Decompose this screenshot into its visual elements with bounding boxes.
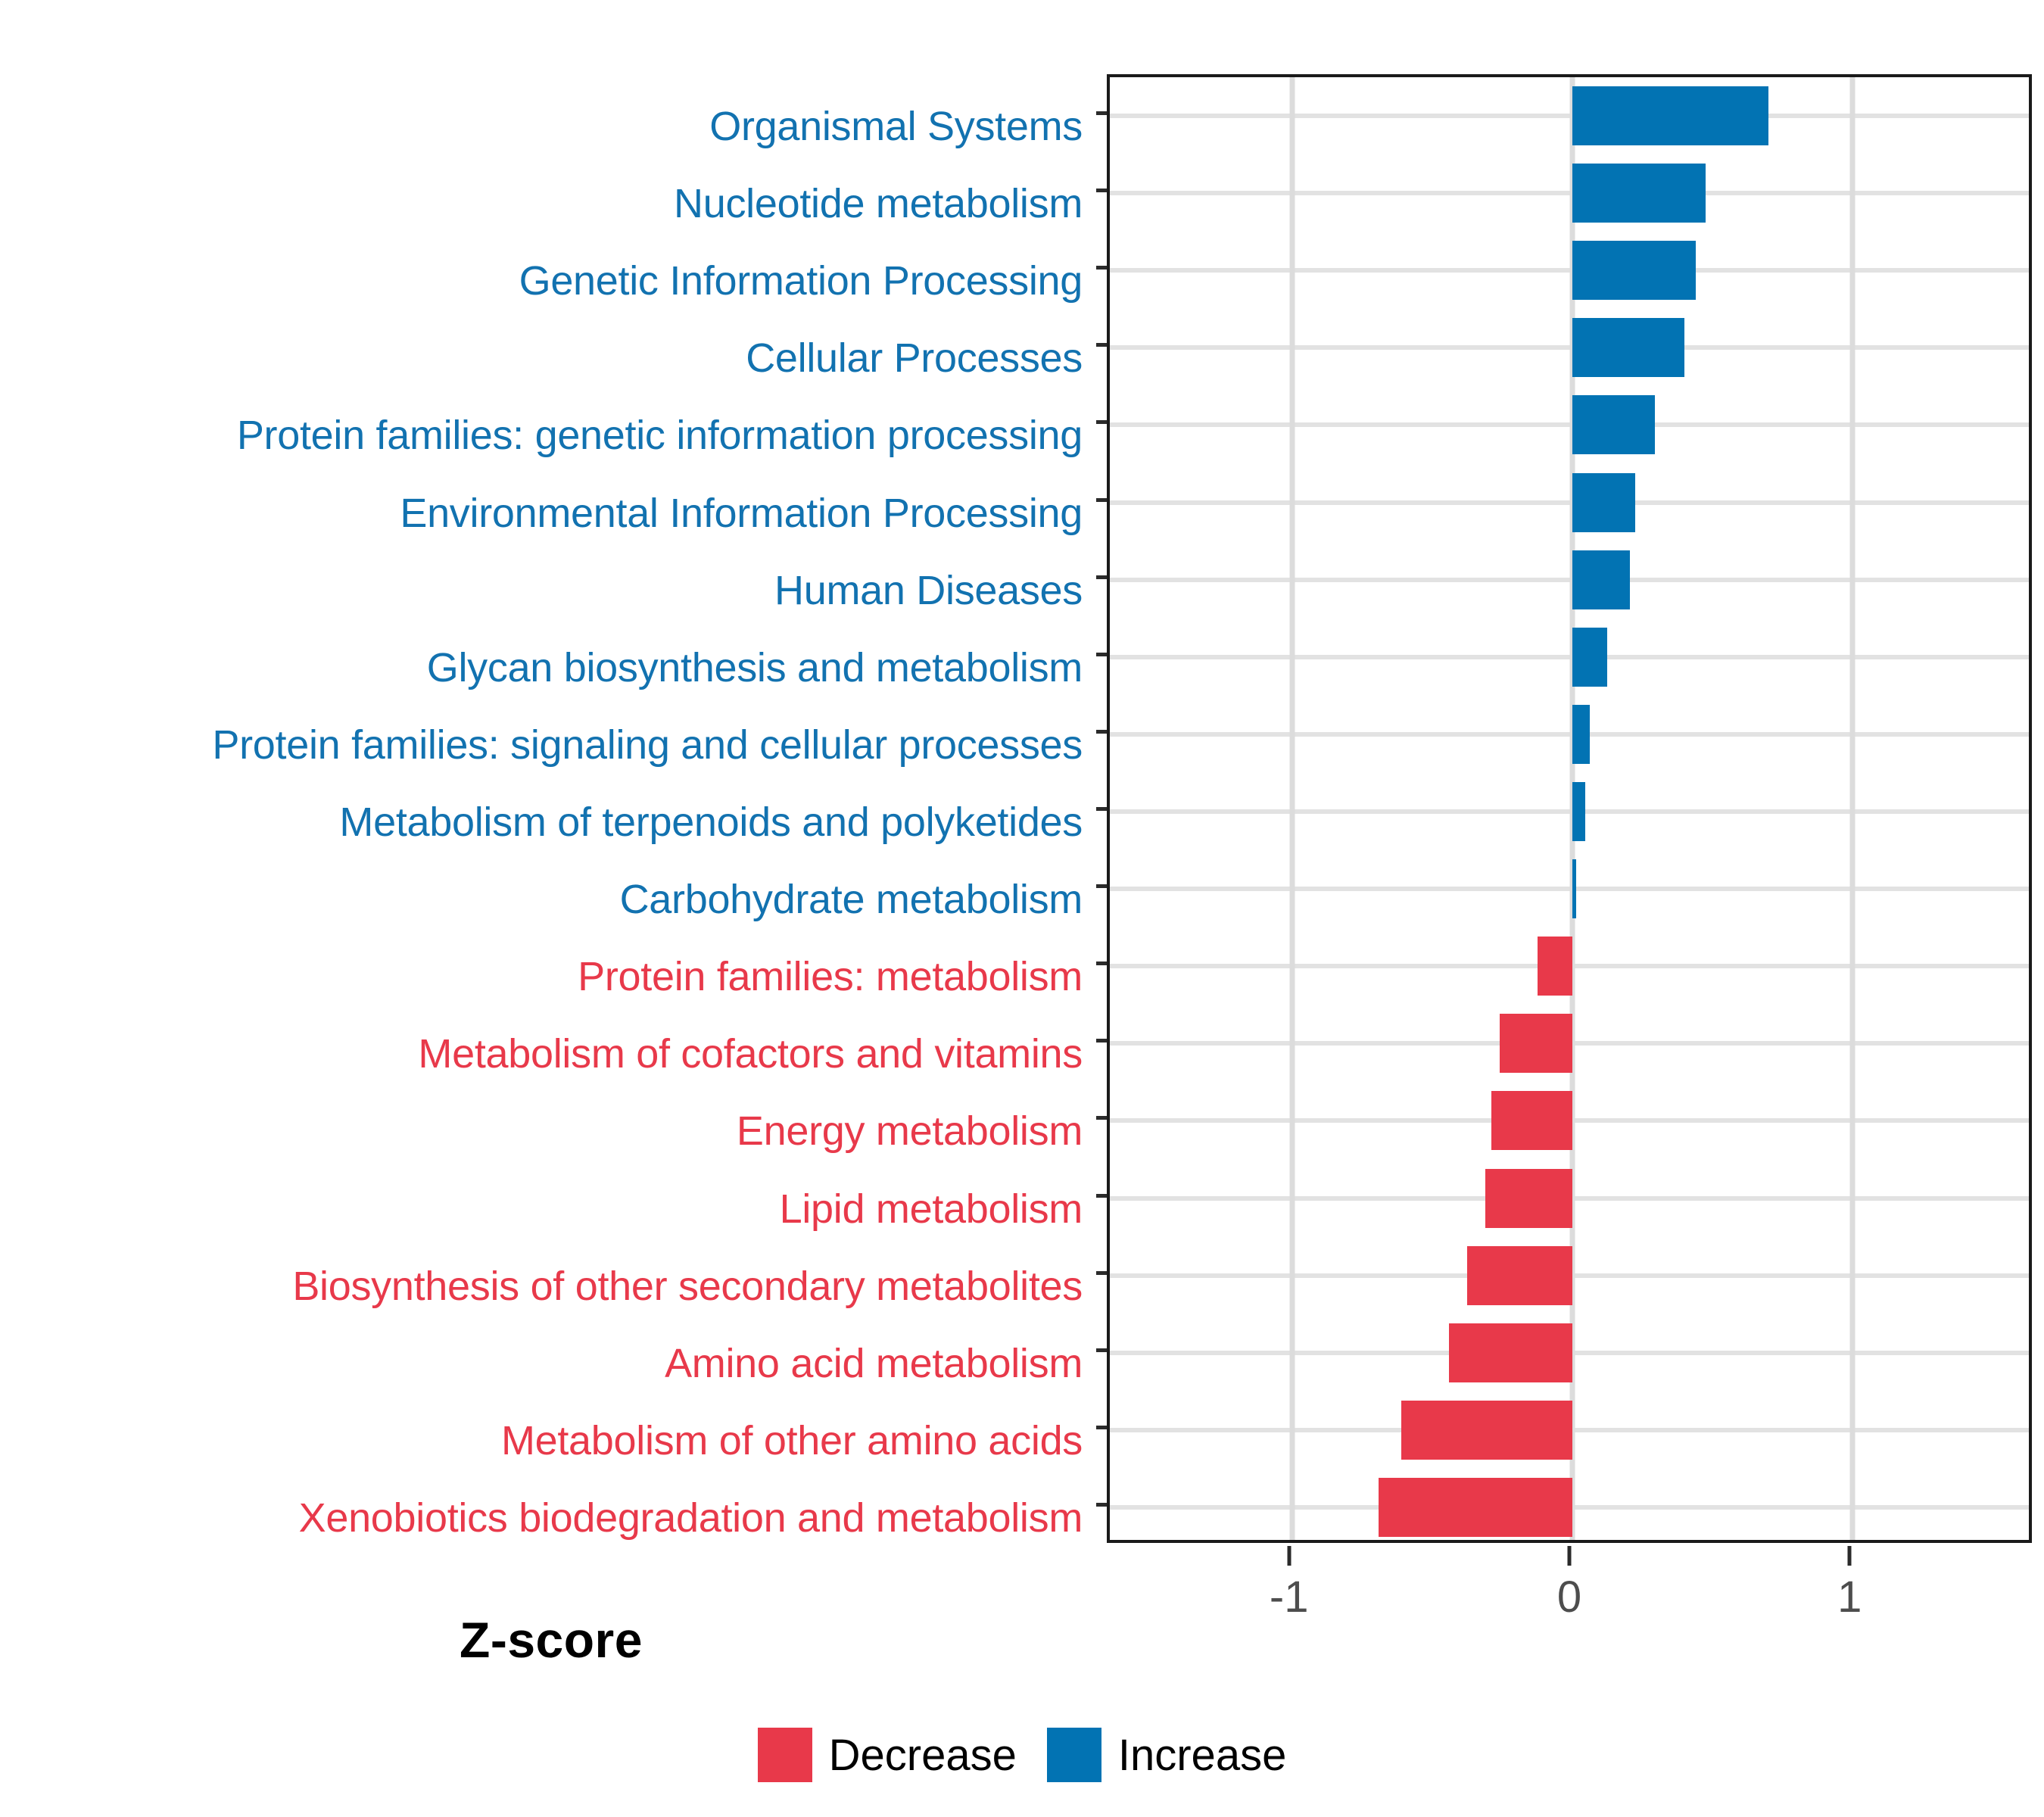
legend-item-decrease[interactable]: Decrease <box>758 1728 1017 1782</box>
y-axis-tick <box>1096 1503 1107 1507</box>
bar[interactable] <box>1491 1091 1572 1150</box>
y-axis-tick <box>1096 730 1107 734</box>
y-axis-tick <box>1096 1194 1107 1198</box>
bar[interactable] <box>1572 164 1706 223</box>
bar[interactable] <box>1467 1246 1572 1305</box>
legend-item-increase[interactable]: Increase <box>1047 1728 1286 1782</box>
gridline-vertical <box>1850 77 1855 1540</box>
y-axis-tick <box>1096 1039 1107 1043</box>
y-axis-tick <box>1096 1348 1107 1352</box>
bar[interactable] <box>1449 1323 1572 1382</box>
y-axis-tick <box>1096 498 1107 502</box>
y-axis-tick <box>1096 1426 1107 1429</box>
chart-root: Organismal SystemsNucleotide metabolismG… <box>0 0 2044 1817</box>
bar[interactable] <box>1485 1169 1572 1228</box>
bar[interactable] <box>1572 705 1590 764</box>
bar[interactable] <box>1572 782 1585 841</box>
legend-swatch-increase <box>1047 1728 1101 1782</box>
bar[interactable] <box>1572 395 1655 454</box>
y-axis-tick <box>1096 1271 1107 1275</box>
x-axis-tick <box>1568 1546 1572 1566</box>
legend-label-increase: Increase <box>1118 1730 1286 1781</box>
bar[interactable] <box>1572 550 1630 609</box>
bar[interactable] <box>1401 1401 1572 1460</box>
y-axis-tick <box>1096 961 1107 965</box>
legend-swatch-decrease <box>758 1728 812 1782</box>
bar[interactable] <box>1500 1014 1572 1073</box>
gridline-vertical <box>1289 77 1295 1540</box>
y-axis-tick <box>1096 884 1107 888</box>
bar[interactable] <box>1572 241 1696 300</box>
y-axis-tick <box>1096 111 1107 115</box>
y-axis-tick <box>1096 266 1107 270</box>
bar[interactable] <box>1572 318 1684 377</box>
bar[interactable] <box>1572 86 1768 145</box>
x-axis-tick <box>1848 1546 1852 1566</box>
chart-legend: Decrease Increase <box>0 1728 2044 1782</box>
y-axis-tick <box>1096 189 1107 192</box>
x-axis-title-text: Z-score <box>460 1611 643 1669</box>
y-axis-tick <box>1096 1116 1107 1120</box>
y-axis-tick <box>1096 420 1107 424</box>
bar[interactable] <box>1538 937 1572 996</box>
plot-panel <box>1107 74 2032 1543</box>
bar[interactable] <box>1379 1478 1572 1537</box>
x-axis-tick <box>1287 1546 1291 1566</box>
y-axis-tick <box>1096 653 1107 656</box>
bar[interactable] <box>1572 628 1607 687</box>
y-axis-tick <box>1096 575 1107 579</box>
legend-label-decrease: Decrease <box>829 1730 1017 1781</box>
x-axis-title: Z-score <box>0 1611 2044 1669</box>
y-axis-tick <box>1096 807 1107 811</box>
bar[interactable] <box>1572 473 1635 532</box>
category-axis-labels: Organismal SystemsNucleotide metabolismG… <box>0 74 1096 1543</box>
y-axis-tick <box>1096 343 1107 347</box>
bar[interactable] <box>1572 859 1576 918</box>
